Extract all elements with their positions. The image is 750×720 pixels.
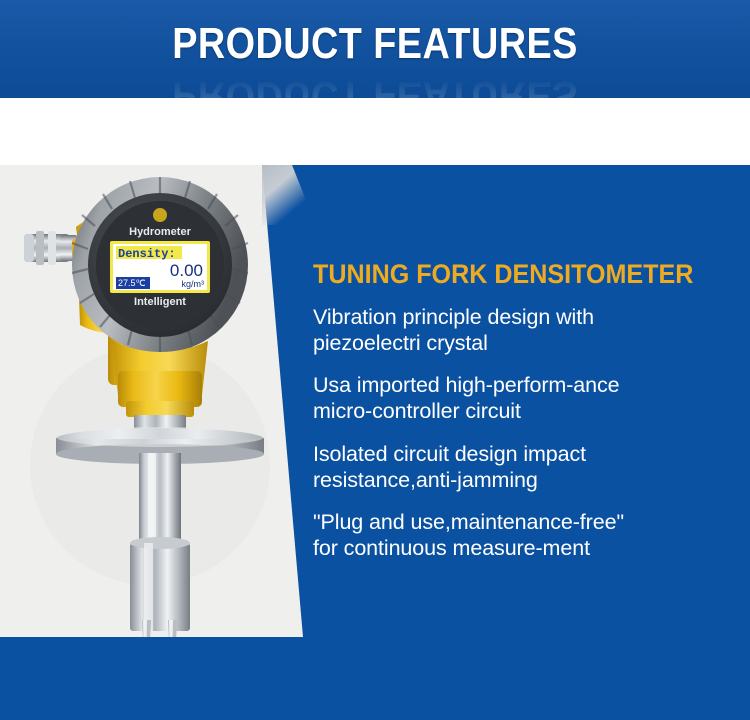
feature-item: Isolated circuit design impact resistanc… <box>313 441 733 493</box>
page-title: PRODUCT FEATURES <box>53 22 698 66</box>
product-photo: Hydrometer Intelligent Density: 0.00 27.… <box>0 165 310 637</box>
feature-line-2: for continuous measure-ment <box>313 535 733 561</box>
page-title-reflection: PRODUCT FEATURES <box>53 74 698 98</box>
product-photo-panel: Hydrometer Intelligent Density: 0.00 27.… <box>0 165 310 637</box>
feature-item: Vibration principle design with piezoele… <box>313 304 733 356</box>
feature-item: "Plug and use,maintenance-free" for cont… <box>313 509 733 561</box>
lcd-display: Density: 0.00 27.5℃ kg/m³ <box>110 241 210 293</box>
page-header: PRODUCT FEATURES PRODUCT FEATURES <box>0 0 750 98</box>
feature-line-2: micro-controller circuit <box>313 398 733 424</box>
feature-line-2: resistance,anti-jamming <box>313 467 733 493</box>
lcd-temperature: 27.5℃ <box>118 278 146 288</box>
probe-shaft <box>130 453 190 631</box>
feature-line-2: piezoelectri crystal <box>313 330 733 356</box>
feature-line-1: "Plug and use,maintenance-free" <box>313 510 624 534</box>
features-panel: TUNING FORK DENSITOMETER Vibration princ… <box>283 222 750 642</box>
lcd-label: Density: <box>118 247 176 261</box>
lcd-unit: kg/m³ <box>182 279 205 289</box>
feature-line-1: Usa imported high-perform-ance <box>313 373 620 397</box>
display-brand-bottom: Intelligent <box>134 296 186 308</box>
product-features-page: PRODUCT FEATURES PRODUCT FEATURES <box>0 0 750 720</box>
feature-line-1: Isolated circuit design impact <box>313 442 586 466</box>
feature-line-1: Vibration principle design with <box>313 305 594 329</box>
feature-item: Usa imported high-perform-ance micro-con… <box>313 372 733 424</box>
lcd-value: 0.00 <box>170 261 203 280</box>
display-brand-top: Hydrometer <box>129 226 191 238</box>
header-divider <box>0 98 750 165</box>
features-title: TUNING FORK DENSITOMETER <box>313 260 704 290</box>
